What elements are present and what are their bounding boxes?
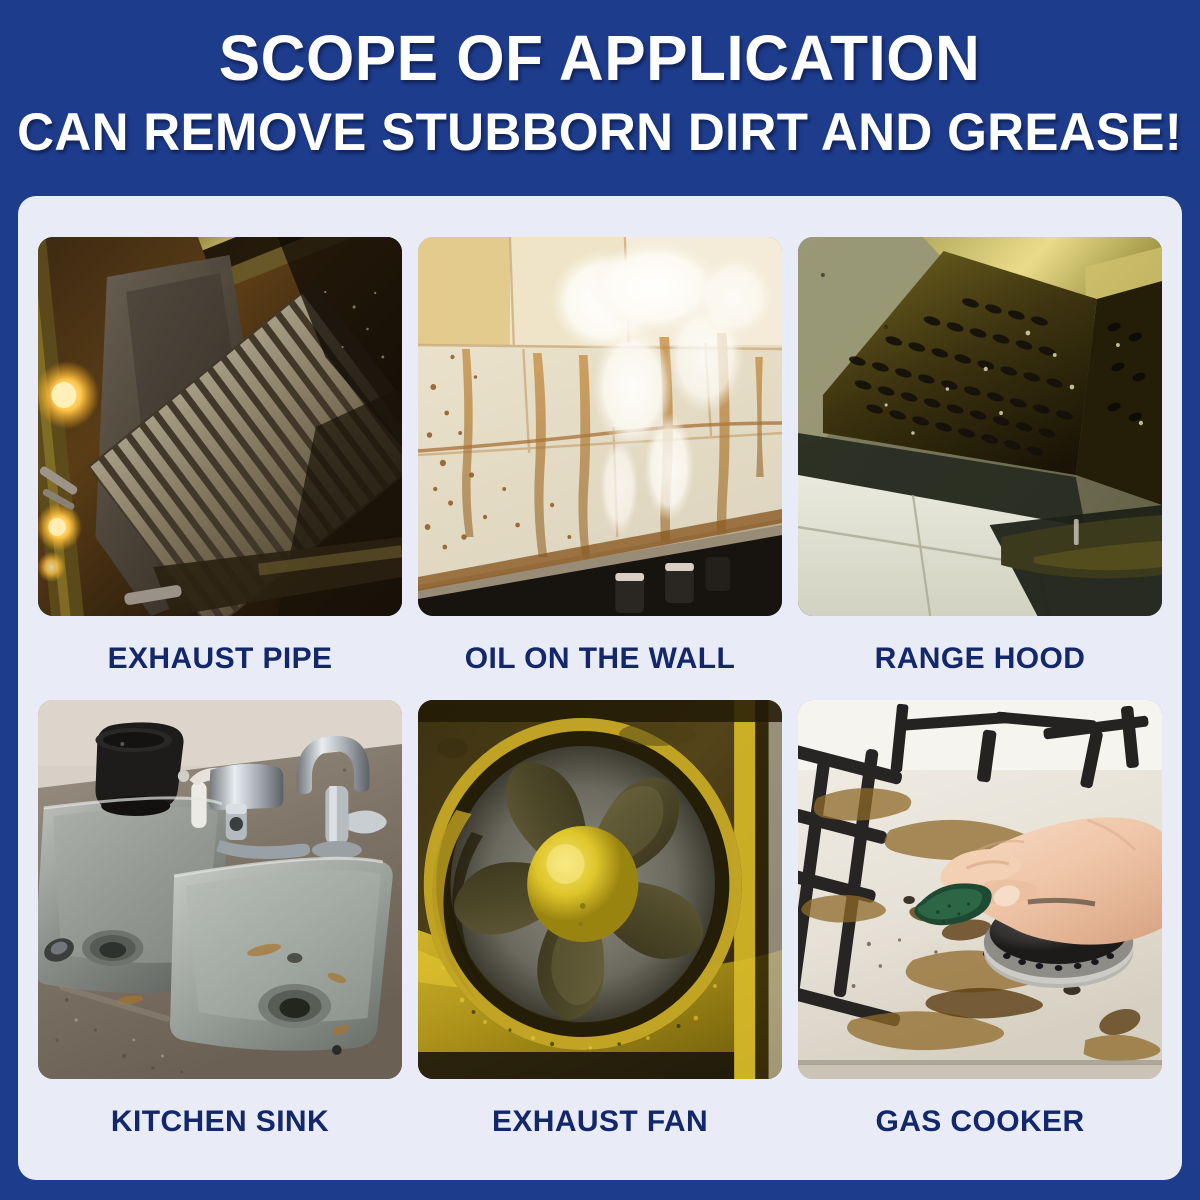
- gas-cooker-cleaning-photo: [798, 700, 1162, 1079]
- dirty-kitchen-sink-photo: [38, 700, 402, 1079]
- oil-stained-wall-tiles-photo: [418, 237, 782, 616]
- caption-exhaust-pipe: EXHAUST PIPE: [108, 642, 333, 676]
- poster-root: SCOPE OF APPLICATION CAN REMOVE STUBBORN…: [0, 0, 1200, 1200]
- greasy-exhaust-fan-photo: [418, 700, 782, 1079]
- application-grid: EXHAUST PIPE: [18, 196, 1182, 1180]
- grid-item-exhaust-fan: EXHAUST FAN: [418, 700, 782, 1159]
- caption-oil-on-the-wall: OIL ON THE WALL: [465, 642, 735, 676]
- grid-item-exhaust-pipe: EXHAUST PIPE: [38, 237, 402, 696]
- grid-item-oil-on-the-wall: OIL ON THE WALL: [418, 237, 782, 696]
- caption-exhaust-fan: EXHAUST FAN: [492, 1105, 708, 1139]
- grid-item-range-hood: RANGE HOOD: [798, 237, 1162, 696]
- page-subtitle: CAN REMOVE STUBBORN DIRT AND GREASE!: [18, 106, 1183, 159]
- caption-kitchen-sink: KITCHEN SINK: [111, 1105, 329, 1139]
- caption-gas-cooker: GAS COOKER: [875, 1105, 1084, 1139]
- caption-range-hood: RANGE HOOD: [875, 642, 1086, 676]
- greasy-range-hood-filter-photo: [798, 237, 1162, 616]
- page-title: SCOPE OF APPLICATION: [219, 26, 981, 90]
- grid-item-kitchen-sink: KITCHEN SINK: [38, 700, 402, 1159]
- grid-item-gas-cooker: GAS COOKER: [798, 700, 1162, 1159]
- greasy-exhaust-pipe-photo: [38, 237, 402, 616]
- header-banner: SCOPE OF APPLICATION CAN REMOVE STUBBORN…: [0, 0, 1200, 196]
- application-scope-panel: EXHAUST PIPE: [18, 196, 1182, 1180]
